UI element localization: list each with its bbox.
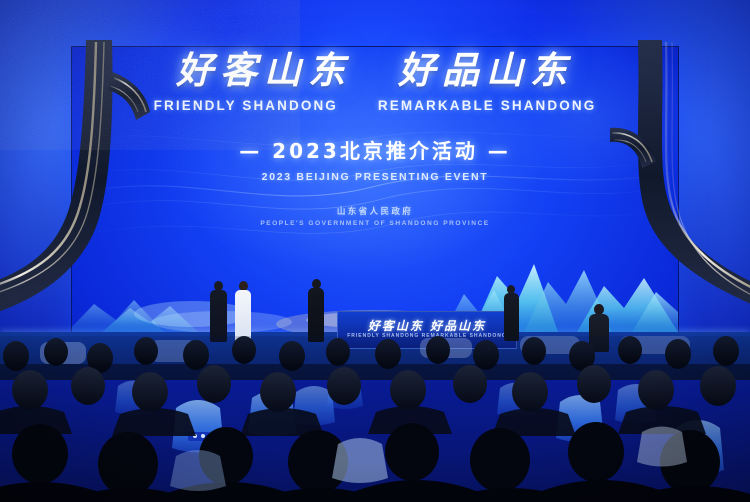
chinese-title-row: 好客山东 好品山东 bbox=[0, 52, 750, 89]
podium-banner-chinese: 好客山东 好品山东 bbox=[338, 317, 516, 334]
stage-person-speaker-at-podium bbox=[305, 279, 327, 343]
english-title-row: FRIENDLY SHANDONG REMARKABLE SHANDONG bbox=[0, 98, 750, 113]
audience-area bbox=[0, 336, 750, 502]
title-english-left: FRIENDLY SHANDONG bbox=[154, 98, 338, 113]
stage-person-host-female bbox=[230, 281, 256, 343]
title-chinese-right: 好品山东 bbox=[398, 52, 574, 89]
organizer-chinese: 山东省人民政府 bbox=[0, 205, 750, 217]
subtitle-chinese: — 2023北京推介活动 — bbox=[0, 135, 750, 164]
screen-headline-block: 好客山东 好品山东 FRIENDLY SHANDONG REMARKABLE S… bbox=[0, 52, 750, 227]
title-english-right: REMARKABLE SHANDONG bbox=[378, 98, 596, 113]
title-chinese-left: 好客山东 bbox=[176, 52, 352, 89]
stage-person-host-male bbox=[206, 281, 230, 343]
event-photo-stage: 好客山东 好品山东 FRIENDLY SHANDONG REMARKABLE S… bbox=[0, 0, 750, 502]
audience-silhouettes bbox=[0, 336, 750, 502]
subtitle-english: 2023 BEIJING PRESENTING EVENT bbox=[0, 171, 750, 183]
organizer-english: PEOPLE'S GOVERNMENT OF SHANDONG PROVINCE bbox=[0, 220, 750, 227]
stage-person-left-of-screen bbox=[500, 285, 522, 343]
